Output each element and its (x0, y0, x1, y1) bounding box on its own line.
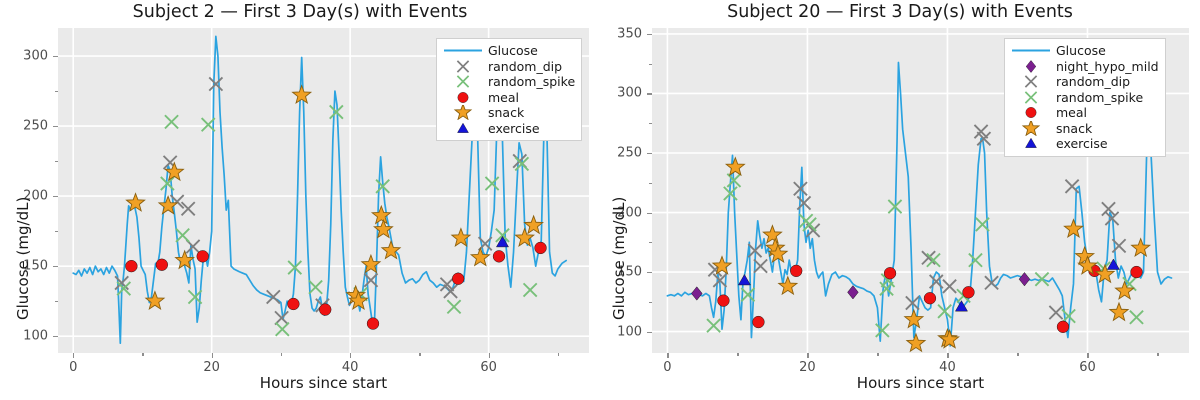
y-tick-label: 250 (604, 146, 642, 161)
chart-panel-left: Subject 2 — First 3 Day(s) with Events 1… (0, 0, 600, 400)
y-tickmark-minor (649, 183, 652, 184)
legend-marker-diamond-icon (1010, 59, 1052, 74)
x-tickmark-minor (142, 353, 143, 356)
legend-item-meal[interactable]: meal (1010, 105, 1159, 121)
legend-label: meal (1052, 105, 1087, 120)
x-tickmark (947, 353, 948, 358)
legend-item-random-spike[interactable]: random_spike (1010, 90, 1159, 106)
x-tick-label: 20 (203, 360, 220, 375)
legend-marker-triangle-icon (1010, 136, 1052, 151)
y-tick-label: 300 (604, 86, 642, 101)
legend-item-exercise[interactable]: exercise (442, 121, 575, 137)
legend-item-random-dip[interactable]: random_dip (1010, 74, 1159, 90)
panel-title-left: Subject 2 — First 3 Day(s) with Events (0, 2, 600, 22)
xaxis-label-right: Hours since start (652, 374, 1189, 392)
legend-marker-star-icon (442, 105, 484, 120)
legend-item-exercise[interactable]: exercise (1010, 136, 1159, 152)
y-tickmark-minor (55, 161, 58, 162)
panel-title-right: Subject 20 — First 3 Day(s) with Events (600, 2, 1200, 22)
legend-label: snack (1052, 121, 1092, 136)
legend-item-random-dip[interactable]: random_dip (442, 59, 575, 75)
y-tick-label: 350 (604, 26, 642, 41)
legend-label: exercise (1052, 136, 1108, 151)
y-tickmark-minor (55, 301, 58, 302)
legend-label: meal (484, 90, 519, 105)
legend-marker-x-icon (1010, 74, 1052, 89)
x-tickmark (1087, 353, 1088, 358)
y-tickmark-minor (649, 302, 652, 303)
legend-marker-triangle-icon (442, 121, 484, 136)
legend-item-snack[interactable]: snack (442, 105, 575, 121)
legend-marker-star-icon (1010, 121, 1052, 136)
x-tickmark (489, 353, 490, 358)
y-tick-label: 250 (10, 119, 48, 134)
y-tick-label: 300 (10, 49, 48, 64)
x-tickmark-minor (281, 353, 282, 356)
y-tickmark (53, 336, 58, 337)
y-tickmark-minor (55, 91, 58, 92)
legend-left[interactable]: Glucoserandom_diprandom_spikemealsnackex… (436, 38, 582, 141)
y-tickmark (647, 34, 652, 35)
y-tickmark (647, 213, 652, 214)
legend-marker-circle-icon (442, 90, 484, 105)
x-tick-label: 0 (663, 360, 671, 375)
legend-label: random_spike (484, 74, 575, 89)
y-tickmark (53, 266, 58, 267)
x-tickmark-minor (1157, 353, 1158, 356)
x-tickmark (807, 353, 808, 358)
x-tickmark-minor (877, 353, 878, 356)
y-tickmark-minor (649, 64, 652, 65)
y-tickmark (647, 93, 652, 94)
x-tick-label: 60 (480, 360, 497, 375)
xaxis-label-left: Hours since start (58, 374, 589, 392)
y-tickmark (53, 126, 58, 127)
legend-label: night_hypo_mild (1052, 59, 1159, 74)
y-tickmark (53, 196, 58, 197)
legend-marker-x-icon (442, 74, 484, 89)
x-tickmark-minor (737, 353, 738, 356)
y-tickmark-minor (649, 242, 652, 243)
y-tickmark (53, 56, 58, 57)
x-tickmark-minor (419, 353, 420, 356)
legend-item-Glucose[interactable]: Glucose (442, 43, 575, 59)
legend-marker-line-icon (1010, 43, 1052, 58)
legend-label: exercise (484, 121, 540, 136)
legend-marker-x-icon (1010, 90, 1052, 105)
legend-item-night-hypo-mild[interactable]: night_hypo_mild (1010, 59, 1159, 75)
y-tickmark (647, 153, 652, 154)
legend-marker-x-icon (442, 59, 484, 74)
legend-marker-circle-icon (1010, 105, 1052, 120)
y-tickmark-minor (55, 231, 58, 232)
y-tickmark (647, 272, 652, 273)
legend-marker-line-icon (442, 43, 484, 58)
legend-item-random-spike[interactable]: random_spike (442, 74, 575, 90)
legend-label: random_dip (484, 59, 562, 74)
legend-item-meal[interactable]: meal (442, 90, 575, 106)
y-tick-label: 100 (604, 324, 642, 339)
x-tick-label: 40 (939, 360, 956, 375)
legend-label: snack (484, 105, 524, 120)
x-tick-label: 0 (69, 360, 77, 375)
x-tick-label: 40 (342, 360, 359, 375)
x-tick-label: 20 (799, 360, 816, 375)
x-tickmark-minor (1017, 353, 1018, 356)
y-tickmark (647, 332, 652, 333)
x-tickmark-minor (558, 353, 559, 356)
legend-label: Glucose (1052, 43, 1106, 58)
chart-panel-right: Subject 20 — First 3 Day(s) with Events … (600, 0, 1200, 400)
y-tick-label: 100 (10, 329, 48, 344)
x-tickmark (212, 353, 213, 358)
legend-item-snack[interactable]: snack (1010, 121, 1159, 137)
legend-item-Glucose[interactable]: Glucose (1010, 43, 1159, 59)
legend-right[interactable]: Glucosenight_hypo_mildrandom_diprandom_s… (1004, 38, 1166, 157)
x-tickmark (350, 353, 351, 358)
legend-label: random_dip (1052, 74, 1130, 89)
legend-label: Glucose (484, 43, 538, 58)
figure-root: Subject 2 — First 3 Day(s) with Events 1… (0, 0, 1200, 400)
y-tickmark-minor (649, 123, 652, 124)
x-tick-label: 60 (1079, 360, 1096, 375)
x-tickmark (667, 353, 668, 358)
legend-label: random_spike (1052, 90, 1143, 105)
yaxis-label-left: Glucose (mg/dL) (14, 197, 32, 320)
x-tickmark (73, 353, 74, 358)
yaxis-label-right: Glucose (mg/dL) (610, 197, 628, 320)
